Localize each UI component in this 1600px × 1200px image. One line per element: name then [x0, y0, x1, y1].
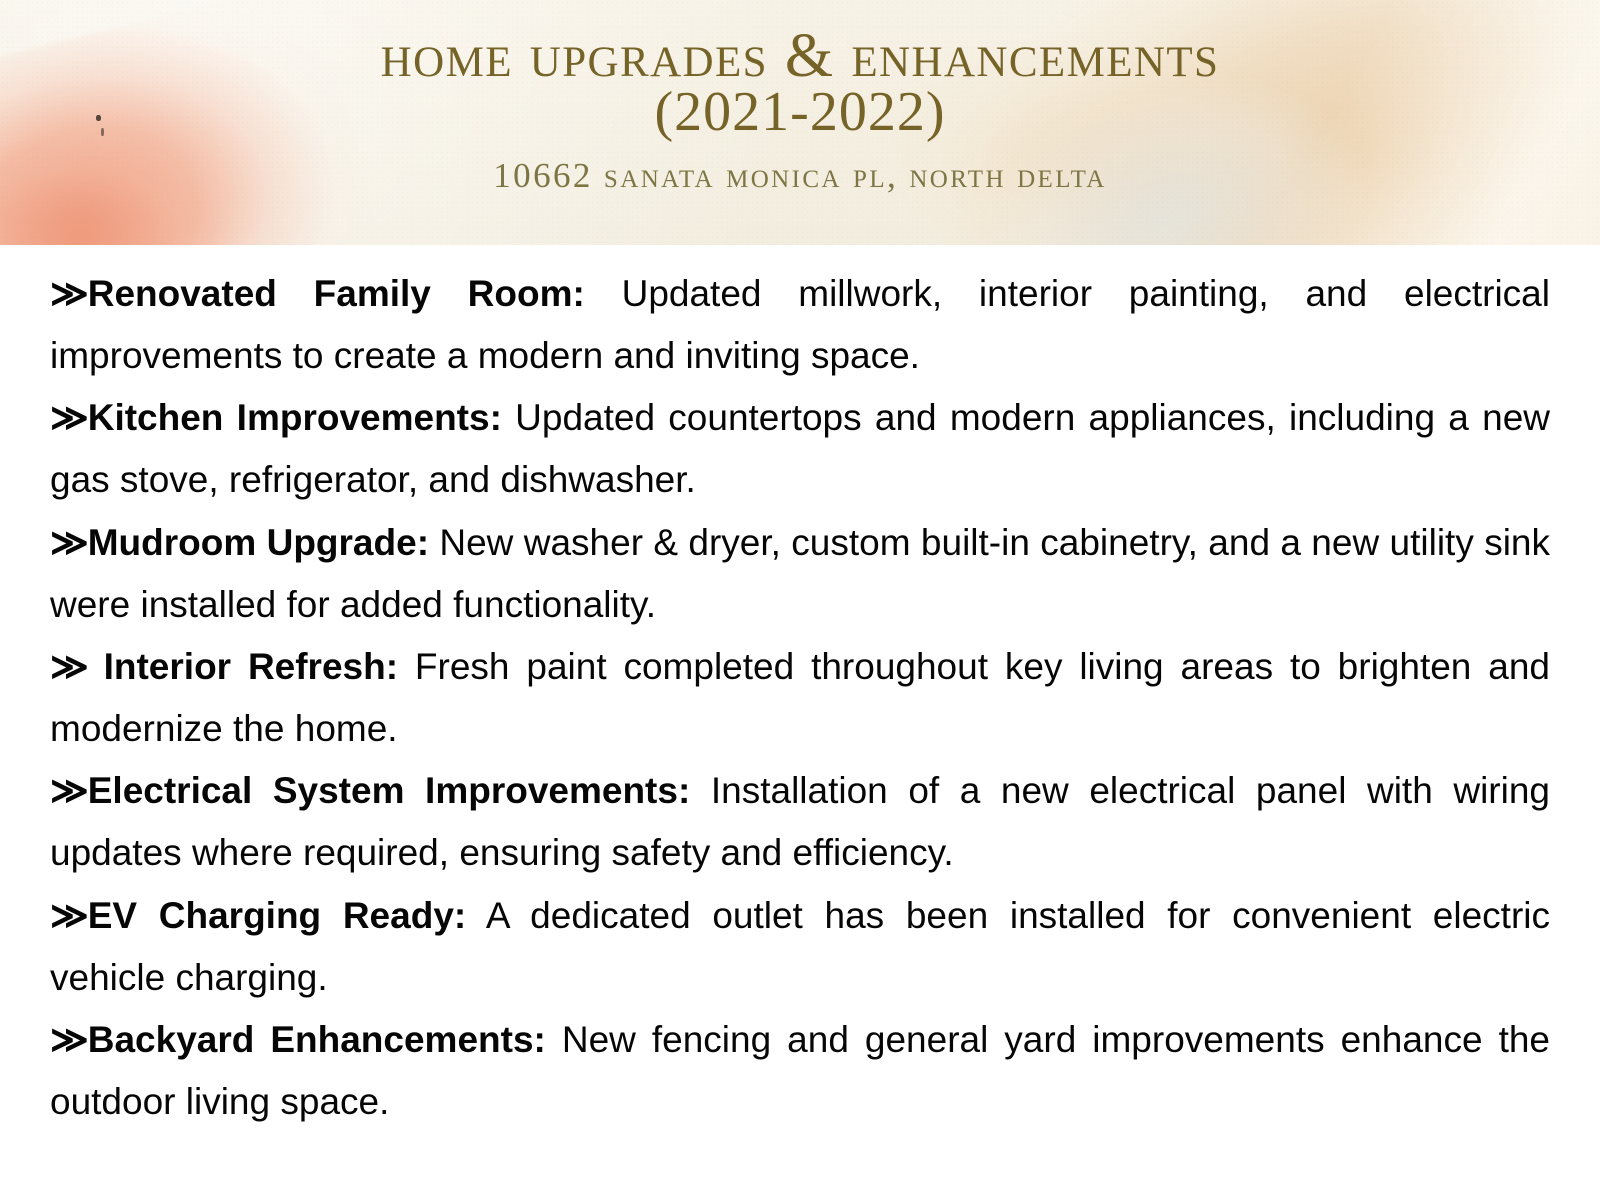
- list-item: ≫ Interior Refresh: Fresh paint complete…: [50, 636, 1550, 760]
- list-item-term: Mudroom Upgrade:: [88, 522, 429, 563]
- list-item-term: EV Charging Ready:: [88, 895, 466, 936]
- list-item: ≫Mudroom Upgrade: New washer & dryer, cu…: [50, 512, 1550, 636]
- slide-header-banner: Home Upgrades & Enhancements (2021-2022)…: [0, 0, 1600, 245]
- bullet-chevron-icon: ≫: [50, 770, 88, 811]
- list-item-term: Interior Refresh:: [104, 646, 398, 687]
- bullet-chevron-icon: ≫: [50, 1019, 88, 1060]
- list-item-term: Backyard Enhancements:: [88, 1019, 546, 1060]
- page-title: Home Upgrades & Enhancements: [381, 26, 1220, 86]
- list-item: ≫Backyard Enhancements: New fencing and …: [50, 1009, 1550, 1133]
- list-item: ≫Electrical System Improvements: Install…: [50, 760, 1550, 884]
- list-item-term: Electrical System Improvements:: [88, 770, 691, 811]
- list-item: ≫Renovated Family Room: Updated millwork…: [50, 263, 1550, 387]
- list-item-term: Kitchen Improvements:: [88, 397, 502, 438]
- upgrades-bullet-list: ≫Renovated Family Room: Updated millwork…: [50, 263, 1550, 1133]
- bullet-chevron-icon: ≫: [50, 646, 104, 687]
- list-item: ≫Kitchen Improvements: Updated counterto…: [50, 387, 1550, 511]
- bullet-chevron-icon: ≫: [50, 397, 88, 438]
- bullet-chevron-icon: ≫: [50, 273, 88, 314]
- list-item: ≫EV Charging Ready: A dedicated outlet h…: [50, 885, 1550, 1009]
- property-address: 10662 Sanata Monica Pl, North Delta: [493, 157, 1106, 196]
- page-title-years: (2021-2022): [655, 84, 946, 141]
- bullet-chevron-icon: ≫: [50, 522, 88, 563]
- header-text-block: Home Upgrades & Enhancements (2021-2022)…: [0, 0, 1600, 245]
- list-item-term: Renovated Family Room:: [88, 273, 585, 314]
- slide-body: ≫Renovated Family Room: Updated millwork…: [0, 245, 1600, 1133]
- bullet-chevron-icon: ≫: [50, 895, 88, 936]
